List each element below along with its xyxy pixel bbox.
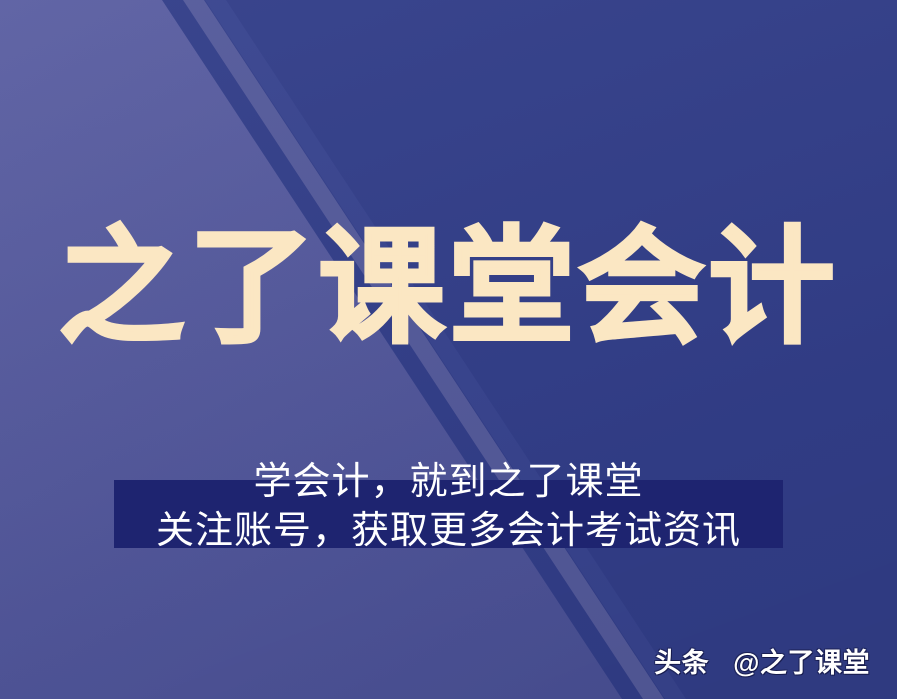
page-title: 之了课堂会计	[0, 218, 897, 358]
subtitle-block: 学会计，就到之了课堂 关注账号，获取更多会计考试资讯	[0, 458, 897, 556]
watermark-platform-label: 头条	[654, 648, 709, 678]
poster-canvas: 之了课堂会计 学会计，就到之了课堂 关注账号，获取更多会计考试资讯 头条 @之了…	[0, 0, 897, 699]
subtitle-line-2: 关注账号，获取更多会计考试资讯	[0, 507, 897, 556]
watermark-account-handle: @之了课堂	[733, 648, 870, 678]
subtitle-line-1: 学会计，就到之了课堂	[0, 458, 897, 507]
watermark: 头条 @之了课堂	[654, 647, 870, 679]
